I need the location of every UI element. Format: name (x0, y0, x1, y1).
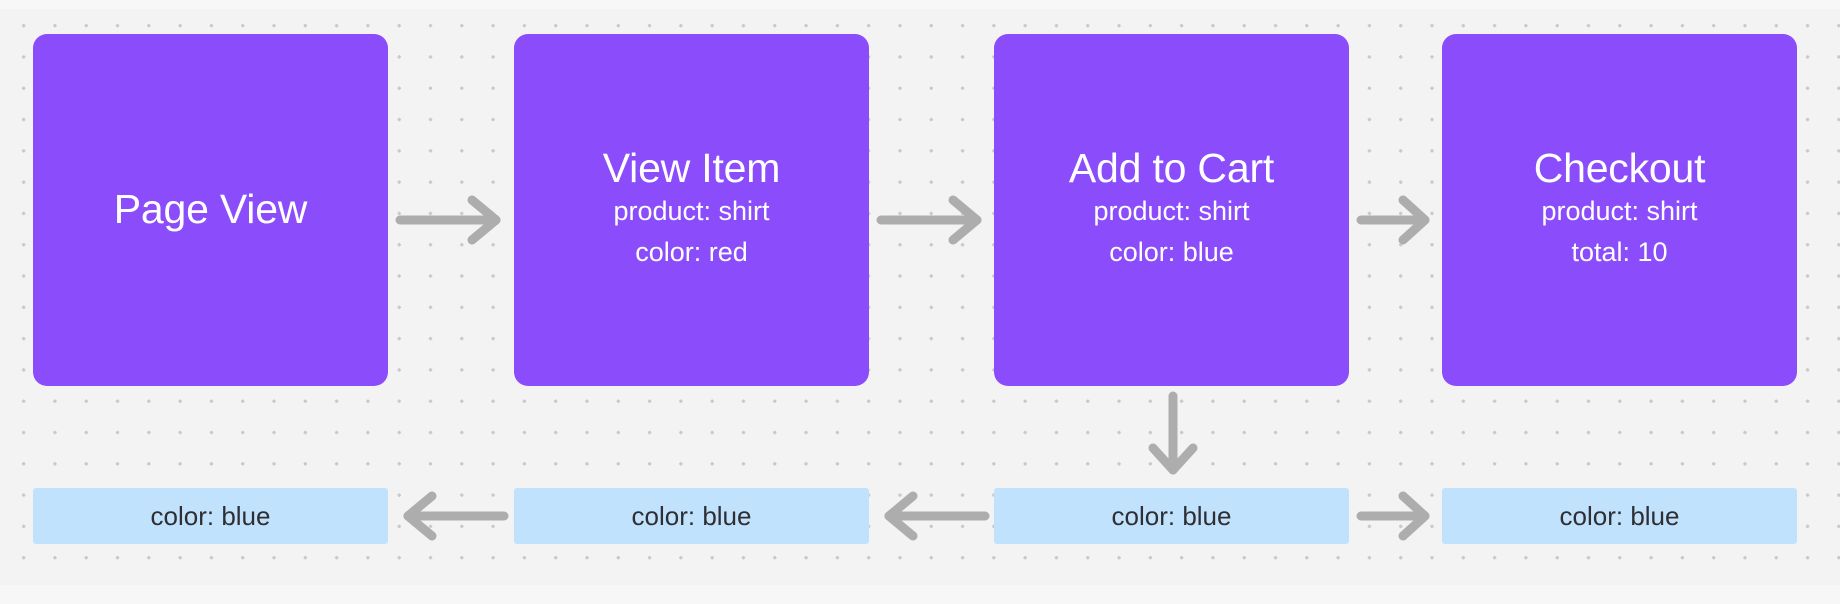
event-node-title: Page View (114, 188, 307, 231)
property-node-4[interactable]: color: blue (1442, 488, 1797, 544)
property-node-1[interactable]: color: blue (33, 488, 388, 544)
event-node-view-item[interactable]: View Item product: shirt color: red (514, 34, 869, 386)
arrow-left-icon (877, 492, 989, 540)
property-node-label: color: blue (632, 503, 752, 529)
arrow-right-icon (877, 196, 989, 244)
canvas-top-band (0, 0, 1840, 9)
property-node-2[interactable]: color: blue (514, 488, 869, 544)
diagram-canvas[interactable]: Page View View Item product: shirt color… (0, 0, 1840, 604)
arrow-left-icon (396, 492, 508, 540)
event-node-title: Checkout (1534, 147, 1706, 190)
event-node-page-view[interactable]: Page View (33, 34, 388, 386)
event-node-property: color: blue (1109, 232, 1234, 273)
event-node-title: View Item (603, 147, 780, 190)
event-node-add-to-cart[interactable]: Add to Cart product: shirt color: blue (994, 34, 1349, 386)
event-node-property: color: red (635, 232, 748, 273)
event-node-property: product: shirt (1093, 191, 1249, 232)
event-node-title: Add to Cart (1069, 147, 1274, 190)
arrow-down-icon (1147, 392, 1199, 482)
property-node-label: color: blue (1560, 503, 1680, 529)
property-node-label: color: blue (151, 503, 271, 529)
arrow-right-icon (396, 196, 508, 244)
event-node-checkout[interactable]: Checkout product: shirt total: 10 (1442, 34, 1797, 386)
property-node-label: color: blue (1112, 503, 1232, 529)
event-node-property: total: 10 (1571, 232, 1667, 273)
arrow-right-icon (1357, 492, 1437, 540)
arrow-right-icon (1357, 196, 1437, 244)
property-node-3[interactable]: color: blue (994, 488, 1349, 544)
event-node-property: product: shirt (613, 191, 769, 232)
canvas-bottom-band (0, 585, 1840, 604)
event-node-property: product: shirt (1541, 191, 1697, 232)
